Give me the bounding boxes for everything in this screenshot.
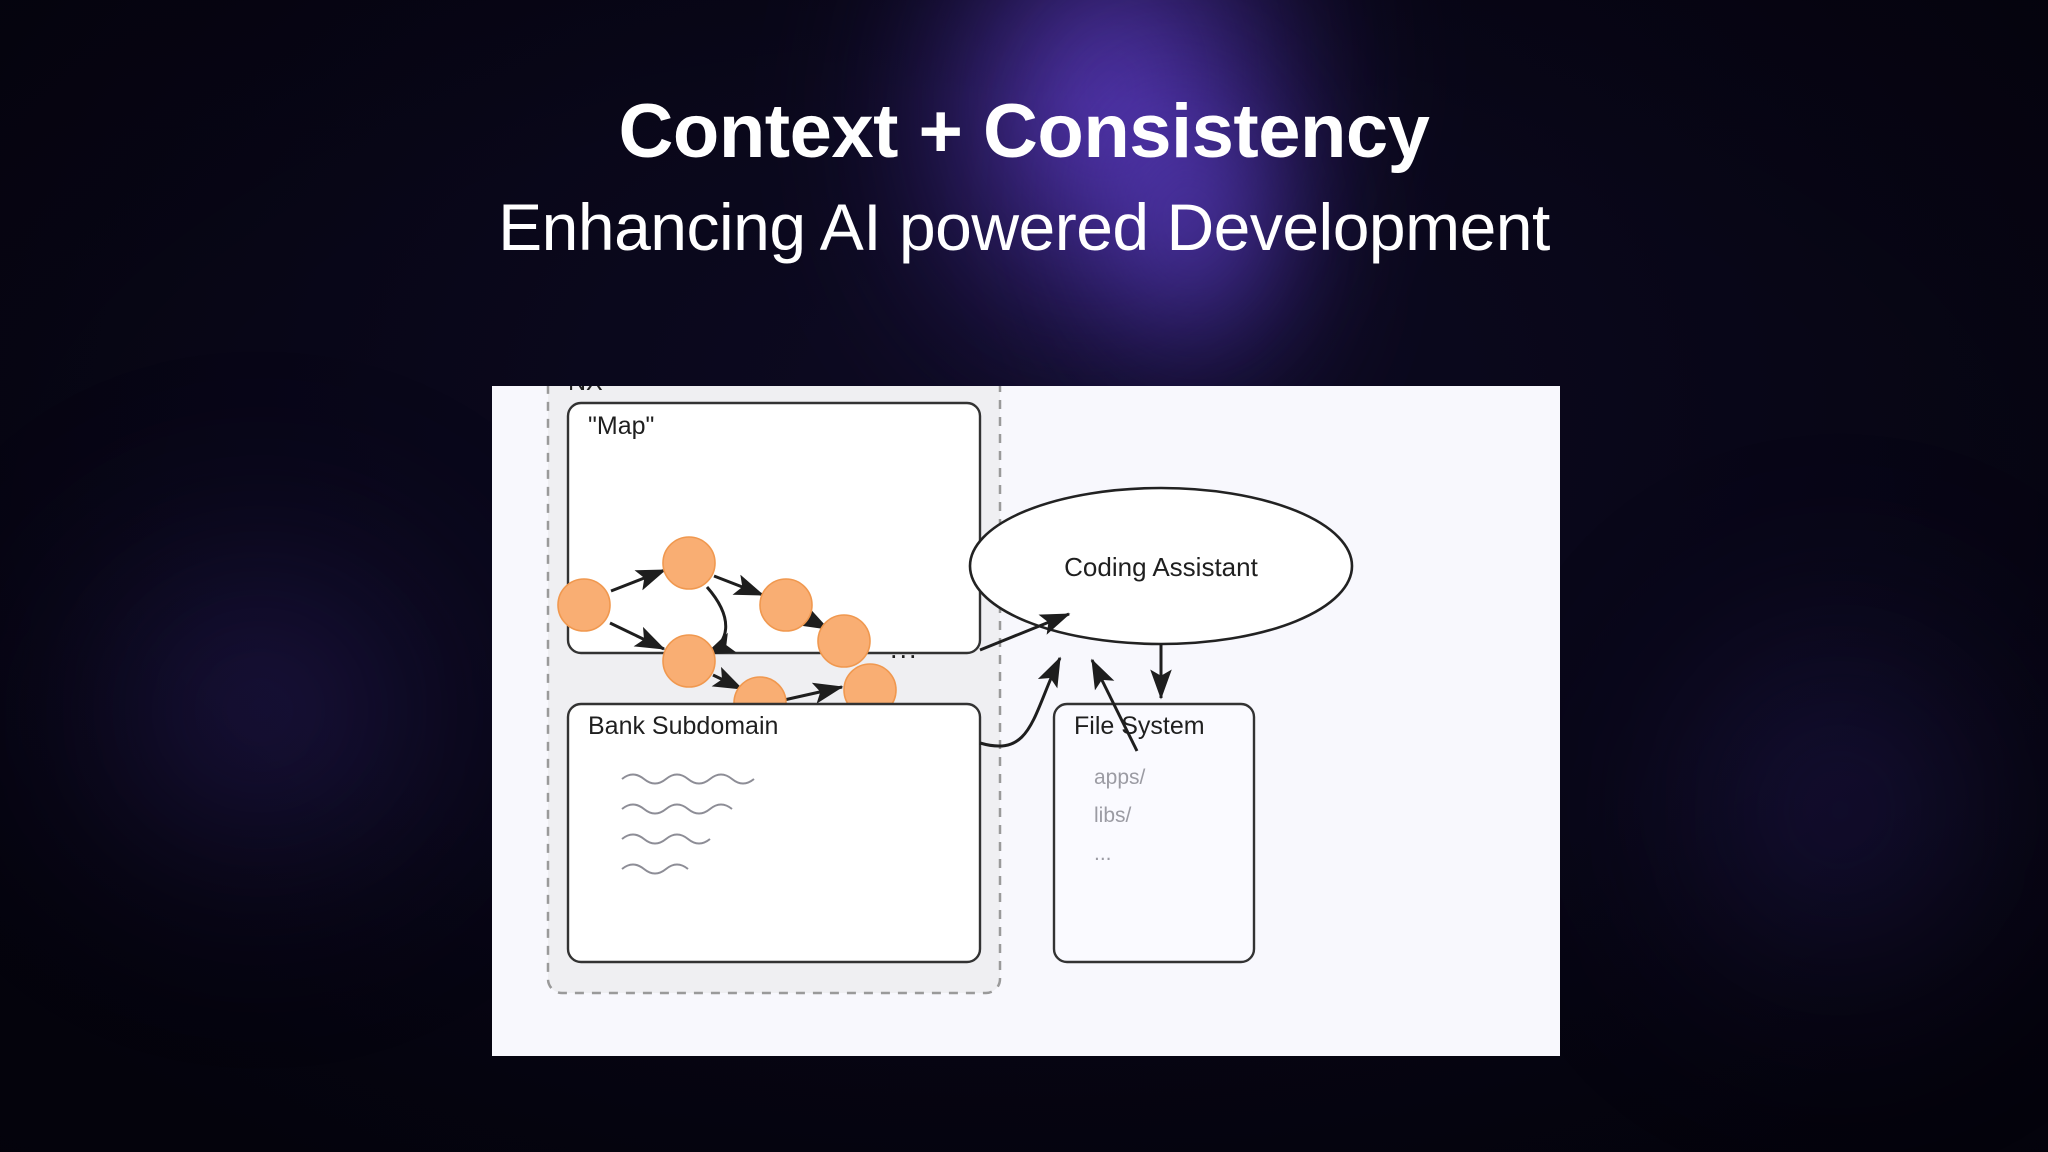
- bank-box-border: [568, 704, 980, 962]
- graph-node-n4: [760, 579, 812, 631]
- file-system-entry-apps: apps/: [1094, 766, 1146, 789]
- coding-assistant-node[interactable]: Coding Assistant: [970, 488, 1352, 644]
- slide-canvas: Context + Consistency Enhancing AI power…: [0, 0, 2048, 1152]
- graph-node-n2: [663, 537, 715, 589]
- title-block: Context + Consistency Enhancing AI power…: [0, 92, 2048, 266]
- bank-subdomain-box[interactable]: Bank Subdomain: [568, 704, 980, 962]
- graph-node-n1: [558, 579, 610, 631]
- file-system-label: File System: [1074, 712, 1205, 740]
- file-system-border: [1054, 704, 1254, 962]
- graph-node-n3: [663, 635, 715, 687]
- nx-group-label: NX: [568, 386, 603, 396]
- bank-box-label: Bank Subdomain: [588, 712, 778, 740]
- map-box-label: "Map": [588, 412, 654, 440]
- purple-glow-right: [1480, 430, 2048, 1152]
- architecture-diagram: NX "Map": [492, 386, 1560, 1056]
- diagram-panel: NX "Map": [492, 386, 1560, 1056]
- assistant-label: Coding Assistant: [1064, 552, 1258, 582]
- map-ellipsis: ...: [890, 634, 919, 664]
- slide-subtitle: Enhancing AI powered Development: [0, 190, 2048, 266]
- file-system-entry-libs: libs/: [1094, 804, 1132, 827]
- file-system-box[interactable]: File System apps/ libs/ ...: [1054, 704, 1254, 962]
- file-system-entry-more: ...: [1094, 842, 1112, 865]
- slide-title: Context + Consistency: [0, 92, 2048, 172]
- graph-node-n6: [818, 615, 870, 667]
